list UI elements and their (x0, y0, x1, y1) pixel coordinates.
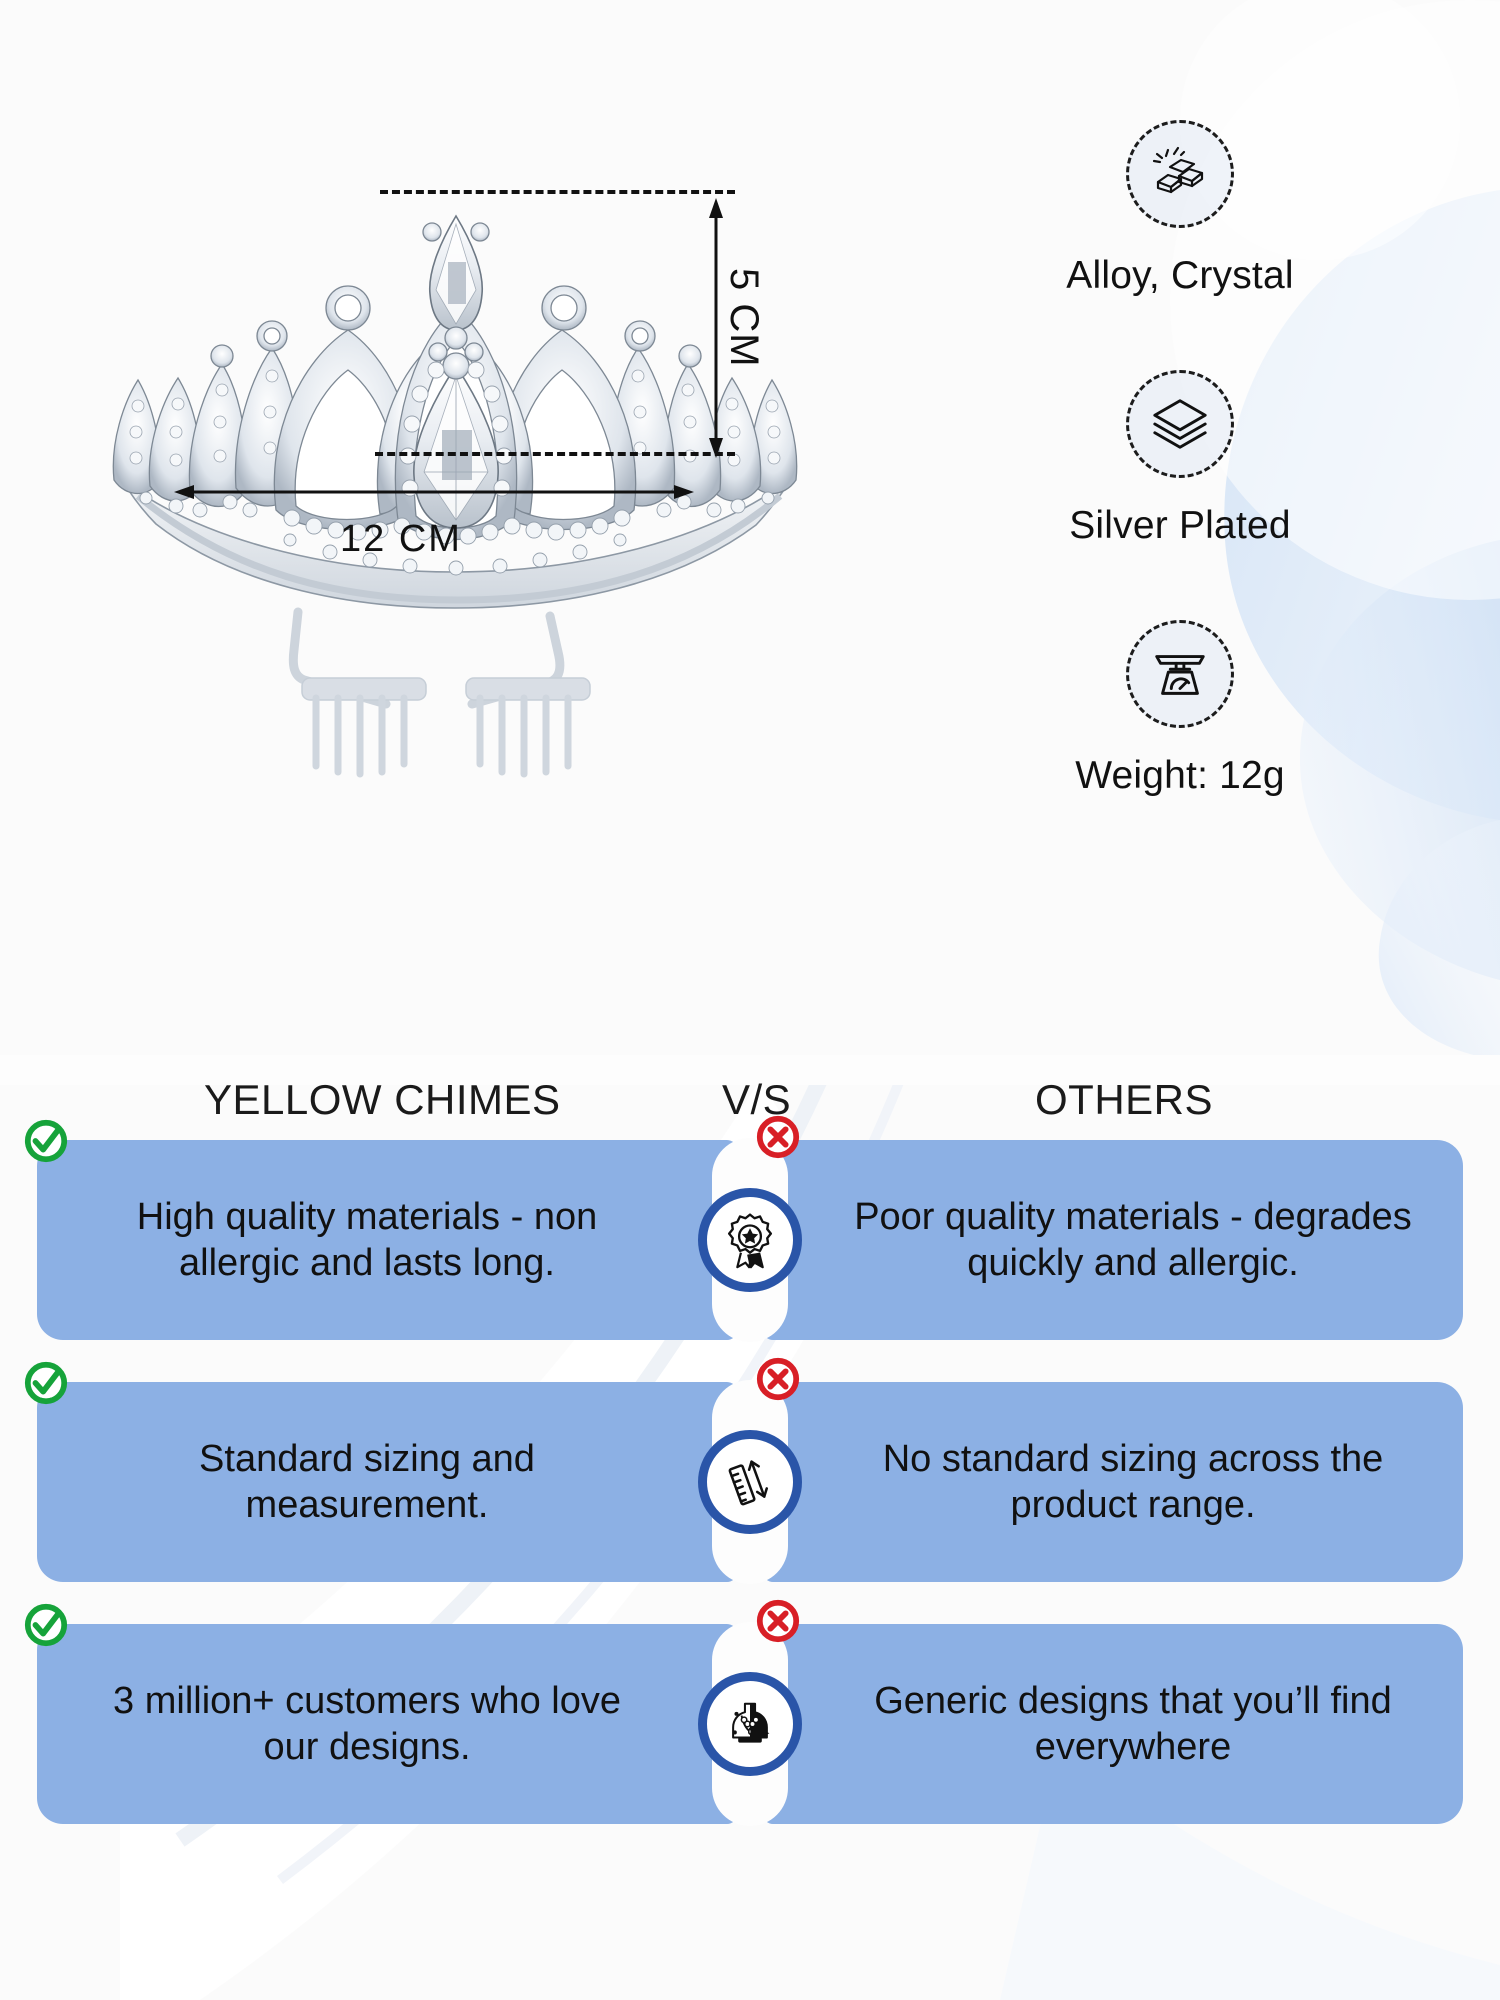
dimension-guide-top (380, 190, 735, 194)
feature-item-plating: Silver Plated (1069, 370, 1291, 548)
comparison-headings: YELLOW CHIMES V/S OTHERS (0, 1060, 1500, 1140)
comparison-section: YELLOW CHIMES V/S OTHERS High quality ma… (0, 1060, 1500, 2000)
ruler-measure-icon (723, 1455, 777, 1509)
kitchen-scale-icon (1149, 643, 1211, 705)
pro-panel: 3 million+ customers who love our design… (37, 1624, 737, 1824)
comparison-row: Standard sizing and measurement. No stan… (37, 1382, 1463, 1582)
con-panel: No standard sizing across the product ra… (763, 1382, 1463, 1582)
width-dimension-arrow (174, 478, 694, 506)
check-circle-icon (23, 1118, 69, 1164)
height-dimension-label: 5 CM (721, 268, 766, 368)
heading-yellow-chimes: YELLOW CHIMES (204, 1076, 561, 1124)
con-panel: Poor quality materials - degrades quickl… (763, 1140, 1463, 1340)
feature-icon-frame (1126, 370, 1234, 478)
pro-text: 3 million+ customers who love our design… (87, 1678, 687, 1771)
cross-circle-icon (755, 1114, 801, 1160)
con-text: Generic designs that you’ll find everywh… (813, 1678, 1413, 1771)
con-panel: Generic designs that you’ll find everywh… (763, 1624, 1463, 1824)
row-icon-badge (698, 1672, 802, 1776)
check-circle-icon (23, 1602, 69, 1648)
necklace-bust-icon (723, 1697, 777, 1751)
feature-label-plating: Silver Plated (1069, 504, 1291, 548)
award-rosette-icon (721, 1211, 779, 1269)
feature-icon-frame (1126, 620, 1234, 728)
pro-panel: Standard sizing and measurement. (37, 1382, 737, 1582)
check-circle-icon (23, 1360, 69, 1406)
row-icon-badge (698, 1188, 802, 1292)
cross-circle-icon (755, 1356, 801, 1402)
pro-text: High quality materials - non allergic an… (87, 1194, 687, 1287)
comparison-row: High quality materials - non allergic an… (37, 1140, 1463, 1340)
pro-panel: High quality materials - non allergic an… (37, 1140, 737, 1340)
gold-bars-sparkle-icon (1148, 142, 1212, 206)
feature-item-material: Alloy, Crystal (1066, 120, 1293, 298)
row-icon-badge (698, 1430, 802, 1534)
cross-circle-icon (755, 1598, 801, 1644)
width-dimension-label: 12 CM (340, 518, 462, 561)
feature-label-material: Alloy, Crystal (1066, 254, 1293, 298)
comparison-row: 3 million+ customers who love our design… (37, 1624, 1463, 1824)
feature-label-weight: Weight: 12g (1075, 754, 1285, 798)
dimension-guide-bottom (375, 452, 735, 456)
product-spec-section: 5 CM 12 CM (0, 0, 1500, 1040)
feature-item-weight: Weight: 12g (1075, 620, 1285, 798)
con-text: No standard sizing across the product ra… (813, 1436, 1413, 1529)
con-text: Poor quality materials - degrades quickl… (813, 1194, 1413, 1287)
layers-stack-icon (1149, 393, 1211, 455)
feature-icon-frame (1126, 120, 1234, 228)
product-image-area: 5 CM 12 CM (60, 150, 940, 850)
pro-text: Standard sizing and measurement. (87, 1436, 687, 1529)
feature-list: Alloy, Crystal Silver Plated (980, 120, 1380, 798)
heading-others: OTHERS (1035, 1076, 1213, 1124)
